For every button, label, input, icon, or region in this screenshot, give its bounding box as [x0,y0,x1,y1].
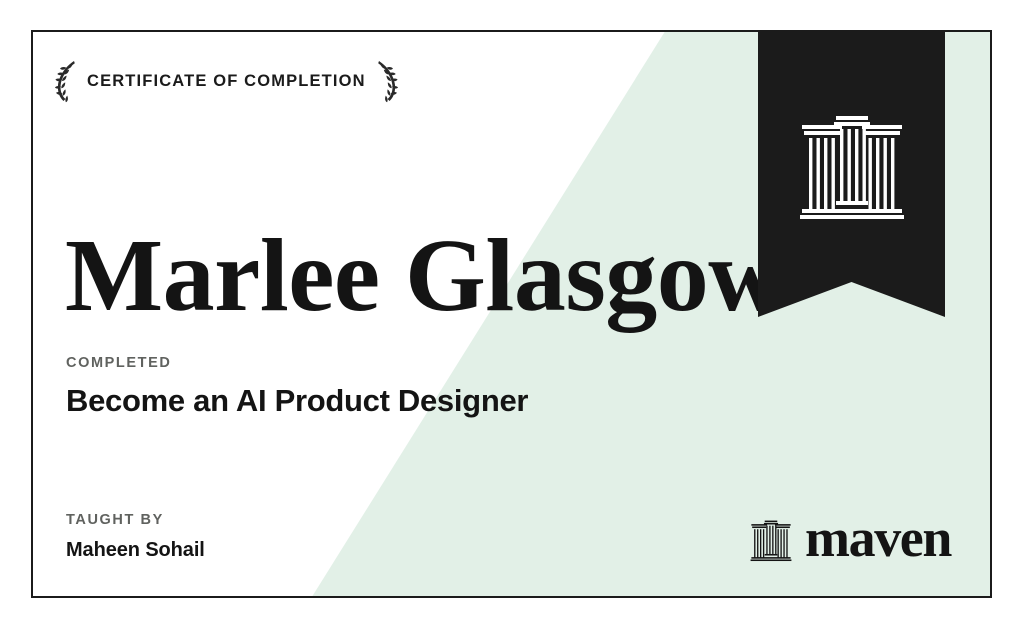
certificate-card: CERTIFICATE OF COMPLETION [31,30,992,598]
award-ribbon [758,30,945,317]
maven-brand-lockup: maven [749,514,951,568]
course-title: Become an AI Product Designer [66,384,528,418]
maven-wordmark: maven [805,511,951,565]
maven-columns-icon [749,519,793,563]
taught-by-block: TAUGHT BY Maheen Sohail [66,513,205,561]
recipient-name: Marlee Glasgow [65,224,783,328]
maven-columns-icon [796,112,908,224]
instructor-name: Maheen Sohail [66,539,205,561]
taught-by-label: TAUGHT BY [66,513,205,528]
laurel-branch-left-icon [53,59,79,103]
certificate-header: CERTIFICATE OF COMPLETION [53,59,400,103]
certificate-page: CERTIFICATE OF COMPLETION [0,0,1024,630]
laurel-branch-right-icon [374,59,400,103]
completed-block: COMPLETED Become an AI Product Designer [66,356,528,418]
certificate-eyebrow: CERTIFICATE OF COMPLETION [87,73,366,90]
completed-label: COMPLETED [66,356,528,371]
